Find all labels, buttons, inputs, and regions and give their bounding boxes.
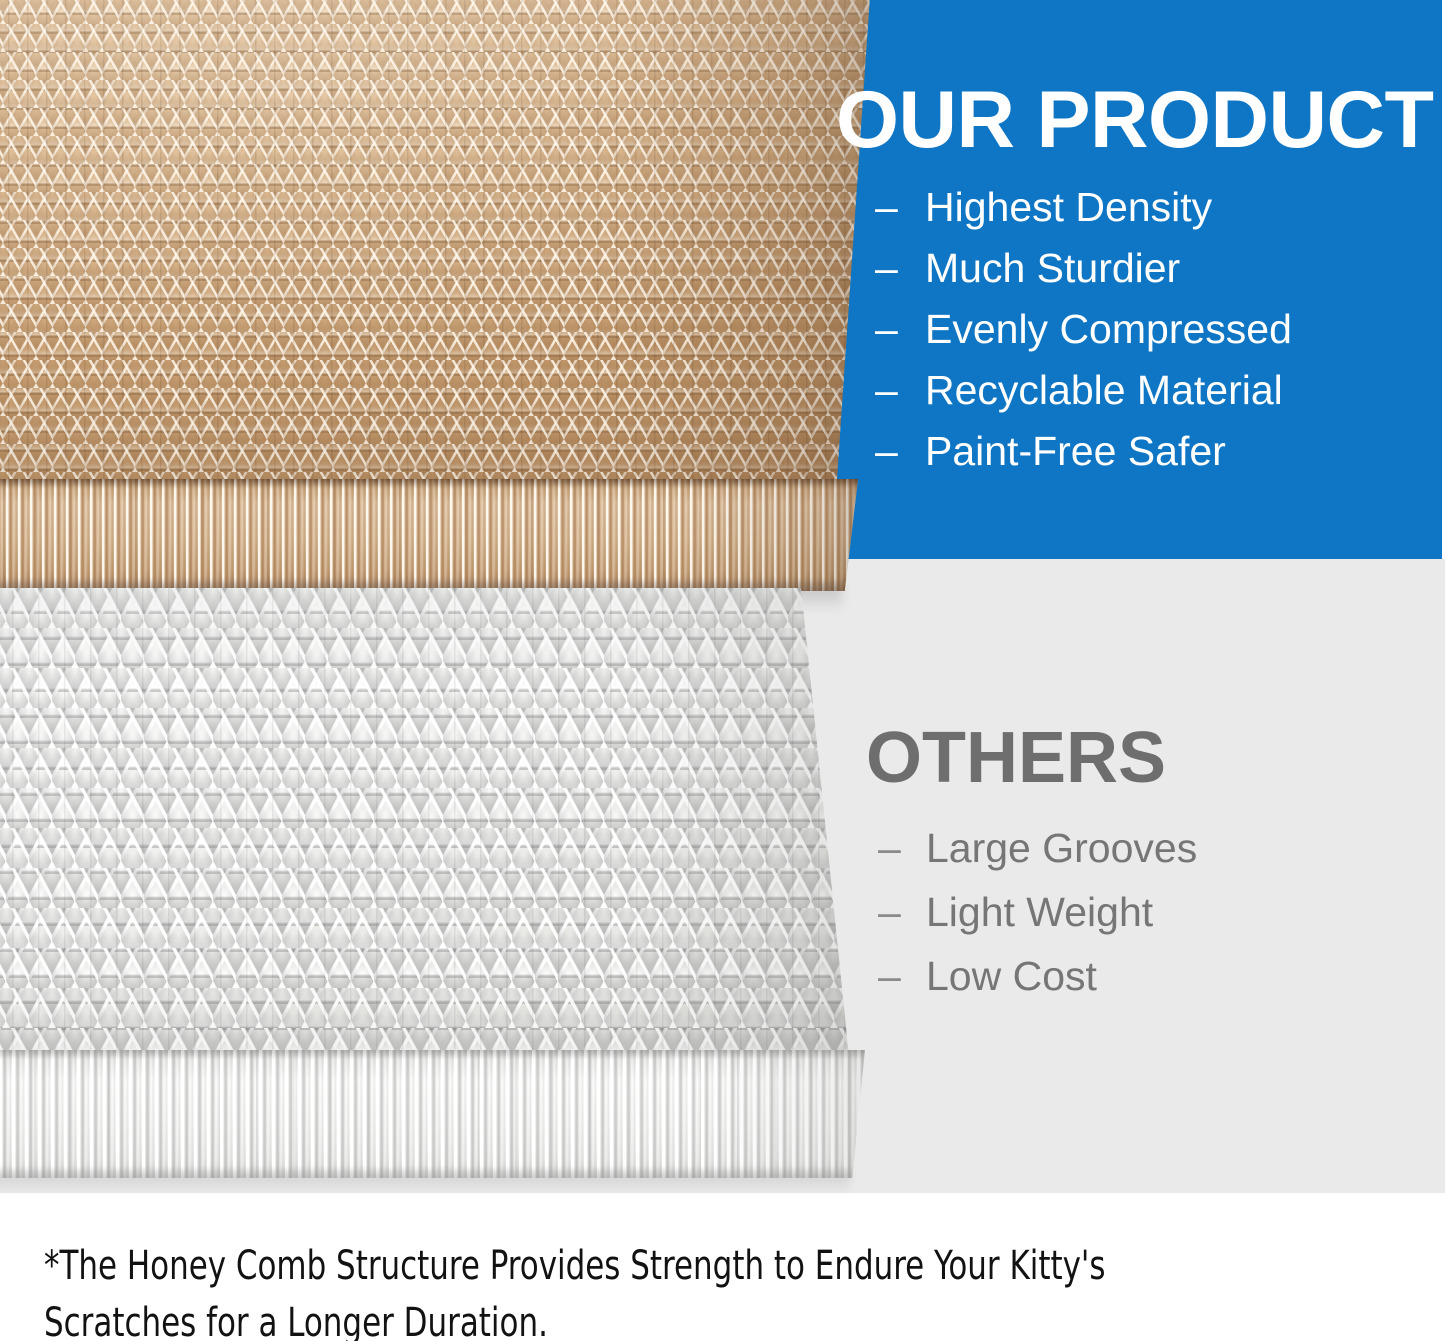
dash-bullet-icon: –	[875, 370, 925, 411]
list-item: – Paint-Free Safer	[836, 431, 1440, 472]
dash-bullet-icon: –	[875, 248, 925, 289]
brown-slab-shading	[0, 0, 870, 496]
white-slab-edge-strip	[0, 1050, 865, 1178]
list-item: – Much Sturdier	[836, 248, 1440, 289]
feature-label: Low Cost	[926, 956, 1097, 997]
brown-slab-edge-strip	[0, 479, 858, 591]
brown-corrugation-lines	[0, 479, 858, 591]
dash-bullet-icon: –	[878, 828, 926, 869]
footnote-text: *The Honey Comb Structure Provides Stren…	[44, 1238, 1162, 1341]
infographic-canvas: OUR PRODUCT – Highest Density – Much Stu…	[0, 0, 1445, 1341]
our-product-text-block: OUR PRODUCT – Highest Density – Much Stu…	[836, 80, 1440, 472]
list-item: – Low Cost	[866, 956, 1426, 997]
others-feature-list: – Large Grooves – Light Weight – Low Cos…	[866, 828, 1426, 997]
white-corrugation-lines	[0, 1050, 865, 1178]
white-slab-drop-shadow	[0, 1172, 850, 1194]
feature-label: Much Sturdier	[925, 248, 1180, 289]
brown-honeycomb-slab-image	[0, 0, 870, 496]
our-product-title: OUR PRODUCT	[836, 80, 1440, 161]
white-slab-shading	[0, 588, 850, 1066]
white-honeycomb-slab-image	[0, 588, 850, 1066]
dash-bullet-icon: –	[875, 309, 925, 350]
feature-label: Evenly Compressed	[925, 309, 1292, 350]
others-title: OTHERS	[866, 722, 1426, 794]
feature-label: Recyclable Material	[925, 370, 1283, 411]
list-item: – Large Grooves	[866, 828, 1426, 869]
feature-label: Paint-Free Safer	[925, 431, 1226, 472]
feature-label: Light Weight	[926, 892, 1153, 933]
list-item: – Recyclable Material	[836, 370, 1440, 411]
dash-bullet-icon: –	[875, 187, 925, 228]
list-item: – Light Weight	[866, 892, 1426, 933]
others-text-block: OTHERS – Large Grooves – Light Weight – …	[866, 722, 1426, 997]
feature-label: Highest Density	[925, 187, 1212, 228]
our-product-feature-list: – Highest Density – Much Sturdier – Even…	[836, 187, 1440, 472]
dash-bullet-icon: –	[878, 892, 926, 933]
list-item: – Evenly Compressed	[836, 309, 1440, 350]
list-item: – Highest Density	[836, 187, 1440, 228]
feature-label: Large Grooves	[926, 828, 1197, 869]
dash-bullet-icon: –	[878, 956, 926, 997]
dash-bullet-icon: –	[875, 431, 925, 472]
